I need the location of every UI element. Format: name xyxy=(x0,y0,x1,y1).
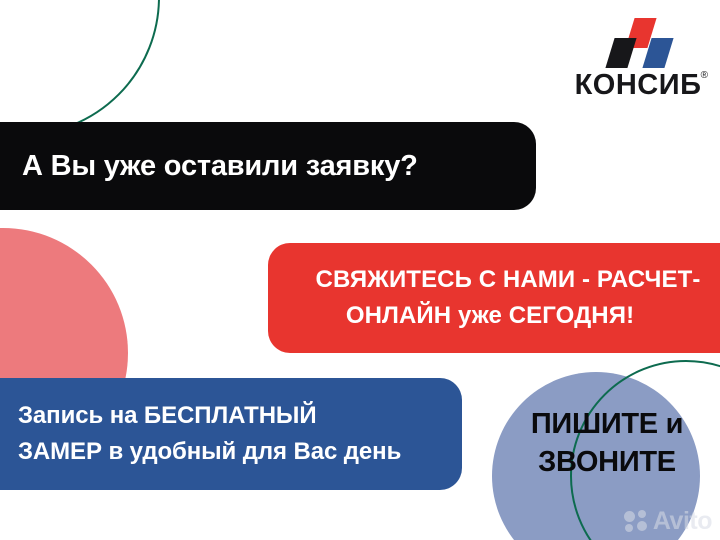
banner-measure-line-2: ЗАМЕР в удобный для Вас день xyxy=(18,434,446,470)
banner-question-text: А Вы уже оставили заявку? xyxy=(22,150,518,183)
promo-poster: КОНСИБ ® А Вы уже оставили заявку? СВЯЖИ… xyxy=(0,0,720,540)
avito-watermark: Avito xyxy=(624,509,712,534)
brand-logo: КОНСИБ ® xyxy=(570,16,706,100)
cta-line-1: ПИШИТЕ и xyxy=(497,405,717,443)
banner-contact: СВЯЖИТЕСЬ С НАМИ - РАСЧЕТ- ОНЛАЙН уже СЕ… xyxy=(268,243,720,353)
banner-question: А Вы уже оставили заявку? xyxy=(0,122,536,210)
banner-measure-line-1: Запись на БЕСПЛАТНЫЙ xyxy=(18,398,446,434)
banner-contact-line-2: ОНЛАЙН уже СЕГОДНЯ! xyxy=(346,298,634,334)
banner-contact-already-word: уже xyxy=(458,302,502,329)
banner-contact-today-word: СЕГОДНЯ! xyxy=(509,302,634,329)
avito-watermark-text: Avito xyxy=(653,509,712,534)
logo-mark-icon xyxy=(570,16,706,68)
banner-contact-line-1: СВЯЖИТЕСЬ С НАМИ - РАСЧЕТ- xyxy=(316,262,701,298)
logo-wordmark-row: КОНСИБ ® xyxy=(570,70,706,100)
cta-line-2: ЗВОНИТЕ xyxy=(497,443,717,481)
logo-wordmark: КОНСИБ xyxy=(575,69,702,101)
registered-trademark-icon: ® xyxy=(701,70,708,81)
banner-contact-online-word: ОНЛАЙН xyxy=(346,302,451,329)
banner-measure: Запись на БЕСПЛАТНЫЙ ЗАМЕР в удобный для… xyxy=(0,378,462,490)
cta-write-and-call: ПИШИТЕ и ЗВОНИТЕ xyxy=(497,405,717,481)
decorative-circle-outline-topleft xyxy=(0,0,160,136)
avito-dots-icon xyxy=(624,510,650,534)
logo-rhombus-black-icon xyxy=(605,38,636,68)
